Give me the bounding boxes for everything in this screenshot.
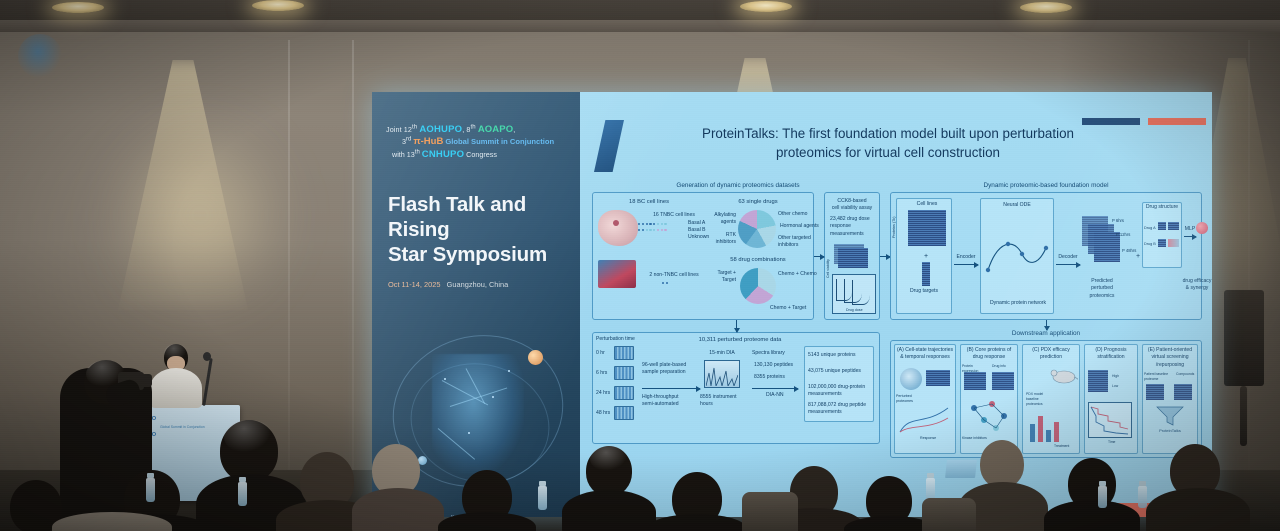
downstream-d-detail-time: Time: [1108, 440, 1115, 445]
org-cnhupo: CNHUPO: [422, 149, 464, 160]
combo-label-chemo-target: Chemo + Target: [770, 305, 806, 312]
prep-line-1: 96-well plate-based: [642, 362, 686, 368]
event-date-location: Oct 11-14, 2025 Guangzhou, China: [388, 280, 508, 289]
congress-text: Congress: [466, 150, 497, 159]
proteins-axis-label: Proteins (7k): [892, 216, 898, 238]
dancer-silhouette: [432, 354, 524, 474]
spectra-proteins: 8355 proteins: [754, 374, 785, 381]
conference-room-photo: Joint 12th AOHUPO, 8th AOAPO, 3rd π-HuB …: [0, 0, 1280, 531]
section-label-downstream: Downstream application: [890, 330, 1202, 337]
downstream-b-id: (B): [967, 347, 974, 353]
compound-library-matrix: [1174, 384, 1192, 400]
well-plate-icon: [614, 386, 634, 400]
patient-proteome-matrix: [1146, 384, 1164, 400]
conference-line-3: with 13th CNHUPO Congress: [392, 149, 497, 160]
slide-title-line-2: proteomics for virtual cell construction: [628, 143, 1148, 162]
breast-tissue-illustration: [598, 210, 638, 246]
downstream-label-b: (B) Core proteins of drug response: [960, 347, 1018, 362]
cell-state-cluster: [900, 368, 922, 390]
plus-sign-input: +: [916, 252, 936, 262]
downstream-e-detail-2: Compounds: [1176, 372, 1194, 377]
speaker-at-podium: [148, 344, 204, 406]
p-label-6hrs: P 6hrs: [1112, 218, 1124, 224]
podium-brand-subtitle: Global Summit in Conjunction: [160, 425, 205, 429]
downstream-d-line-2: stratification: [1097, 354, 1124, 360]
core-protein-network: [964, 398, 1014, 432]
high-throughput-note: High-throughput semi-automated: [642, 394, 692, 409]
cell-line-dot-row: [638, 223, 667, 225]
sep-1: , 8: [462, 125, 470, 134]
stat-unique-proteins: 5143 unique proteins: [808, 352, 872, 359]
summit-text: Global Summit in Conjunction: [445, 137, 554, 146]
arrow-datasets-down: [736, 320, 737, 332]
downstream-c-detail-2: Treatment: [1054, 444, 1069, 449]
section-label-datasets: Generation of dynamic proteomics dataset…: [598, 182, 878, 189]
drug-a-fingerprint-2: [1168, 222, 1179, 230]
ordinal-sup-3: rd: [406, 137, 411, 143]
slice-label-rtk: RTKinhibitors: [704, 232, 736, 247]
cck8-header: CCK8-based cell viability assay: [826, 198, 878, 213]
timepoint-0hr: 0 hr: [596, 350, 605, 357]
neural-ode-label: Neural ODE: [982, 202, 1052, 209]
dose-response-curve: [852, 280, 870, 305]
ceiling-downlight: [252, 0, 304, 11]
non-tnbc-dot-row: [662, 282, 668, 284]
cck8-plate-stack: [838, 248, 868, 268]
downstream-a-detail-1: Perturbed proteomes: [896, 394, 926, 404]
non-tnbc-label: 2 non-TNBC cell lines: [640, 272, 708, 279]
sep-2: ,: [513, 125, 515, 134]
planet-large: [528, 350, 543, 365]
bottle-cap: [1139, 481, 1146, 486]
ceiling-downlight: [1020, 2, 1072, 13]
output-line-1: drug efficacy: [1183, 278, 1212, 284]
projection-screen: Joint 12th AOHUPO, 8th AOAPO, 3rd π-HuB …: [372, 92, 1212, 517]
downstream-d-detail-low: Low: [1112, 384, 1118, 389]
network-node: [492, 396, 494, 398]
downstream-e-line-2: virtual screening: [1151, 354, 1188, 360]
timepoint-48hrs: 48 hrs: [596, 410, 610, 417]
speaker-torso: [150, 368, 202, 408]
pdx-efficacy-bar: [1038, 416, 1043, 442]
title-bar-red-accent: [1148, 118, 1206, 125]
downstream-d-id: (D): [1095, 347, 1102, 353]
microphone-head: [203, 352, 211, 361]
drug-combinations-label: 58 drug combinations: [706, 256, 810, 264]
perturbation-time-label: Perturbation time: [596, 336, 635, 343]
downstream-label-c: (C) PDX efficacy prediction: [1022, 347, 1080, 362]
ode-trajectory-curve: [984, 232, 1050, 278]
protein-expression-matrix: [964, 372, 986, 390]
drug-combinations-pie-chart: [740, 268, 776, 304]
perturbed-proteome-data-label: 10,311 perturbed proteome data: [650, 336, 830, 344]
stat-drug-protein: 102,000,000 drug-protein measurements: [808, 384, 872, 399]
stat-unique-peptides: 43,075 unique peptides: [808, 368, 872, 375]
well-plate-icon: [614, 346, 634, 360]
water-bottle: [146, 478, 155, 502]
event-date: Oct 11-14, 2025: [388, 280, 440, 289]
slice-label-hormonal: Hormonal agents: [780, 223, 819, 230]
downstream-b-line-2: drug response: [973, 354, 1006, 360]
drug-targets-label: Drug targets: [898, 288, 950, 295]
dia-label: 15-min DIA: [702, 350, 742, 357]
downstream-label-d: (D) Prognosis stratification: [1084, 347, 1138, 362]
chair-back: [922, 498, 976, 531]
joint-prefix: Joint 12: [386, 125, 412, 134]
downstream-c-id: (C): [1032, 347, 1039, 353]
instrument-hours-label: 8555 instrument hours: [700, 394, 746, 409]
audience-head: [980, 440, 1024, 488]
laptop-screen-glow: [945, 460, 977, 478]
bc-cell-lines-label: 18 BC cell lines: [594, 198, 704, 206]
water-bottle: [1098, 486, 1107, 508]
camera-lens: [138, 374, 152, 387]
cell-lines-heatmap: [908, 210, 946, 246]
pdx-mouse-icon: [1050, 364, 1078, 386]
network-node: [468, 432, 470, 434]
single-drugs-pie-chart: [738, 210, 776, 248]
arrow-to-encoder: [954, 264, 978, 265]
timepoint-6hrs: 6 hrs: [596, 370, 607, 377]
proteintalks-logo-label: ProteinTalks: [1146, 428, 1194, 434]
ordinal-sup-2: th: [471, 125, 476, 131]
bottle-cap: [147, 473, 154, 478]
prognosis-heatmap: [1088, 370, 1108, 392]
downstream-b-line-1: Core proteins of: [975, 347, 1011, 353]
event-city: Guangzhou, China: [447, 280, 509, 289]
ordinal-sup: th: [412, 125, 417, 131]
conference-line-1: Joint 12th AOHUPO, 8th AOAPO,: [386, 124, 515, 135]
downstream-b-detail-2: Drug info: [992, 364, 1006, 369]
downstream-e-id: (E): [1148, 347, 1155, 353]
org-pi-hub: π-HuB: [413, 136, 443, 147]
arrow-to-mlp: [1184, 236, 1196, 237]
session-title-line-2: Star Symposium: [388, 242, 568, 267]
tnbc-cell-lines-label: 16 TNBC cell lines: [638, 212, 710, 219]
downstream-b-detail-1: Protein expression: [962, 364, 988, 374]
combo-label-chemo-chemo: Chemo + Chemo: [778, 271, 817, 278]
downstream-label-a: (A) Cell-state trajectories & temporal r…: [894, 347, 956, 362]
audience-shoulders: [1146, 488, 1250, 531]
ordinal-sup-4: th: [415, 150, 420, 156]
downstream-e-detail-1: Patient baseline proteome: [1144, 372, 1170, 382]
stat-drug-peptide: 817,088,072 drug peptide measurements: [808, 402, 872, 417]
drug-a-fingerprint: [1158, 222, 1166, 230]
session-title: Flash Talk and Rising Star Symposium: [388, 192, 568, 267]
perturbed-proteomes-matrix: [926, 370, 950, 386]
non-tnbc-cell-illustration: [598, 260, 636, 288]
arrow-model-down: [1046, 320, 1047, 330]
pdx-efficacy-bar: [1030, 424, 1035, 442]
water-bottle: [1138, 486, 1147, 508]
downstream-a-id: (A): [897, 347, 904, 353]
slice-label-alkylating: Alkylatingagents: [706, 212, 736, 227]
well-plate-icon: [614, 366, 634, 380]
drug-efficacy-output-label: drug efficacy & synergy: [1180, 278, 1212, 293]
downstream-c-detail-1: PDX model baseline proteomics: [1026, 392, 1054, 407]
audience-hair-highlight: [224, 420, 274, 454]
water-bottle: [238, 482, 247, 506]
wall-seam: [288, 40, 290, 470]
bottle-cap: [1099, 481, 1106, 486]
drug-info-matrix: [992, 372, 1014, 390]
cck8-bullet: 23,482 drug dose response measurements: [830, 216, 876, 238]
cck8-header-line-1: CCK8-based: [837, 198, 866, 204]
water-bottle: [538, 486, 547, 510]
chair-back: [742, 492, 798, 531]
slice-label-other-chemo: Other chemo: [778, 211, 807, 218]
ceiling-downlight: [740, 1, 792, 12]
well-plate-icon: [614, 406, 634, 420]
loudspeaker-stand: [1240, 386, 1247, 446]
encoder-label: Encoder: [952, 254, 980, 261]
dia-nn-label: DIA-NN: [766, 392, 784, 399]
sample-prep-label: 96-well plate-based sample preparation: [642, 362, 698, 377]
downstream-d-detail-high: High: [1112, 374, 1119, 379]
wall-seam: [352, 40, 354, 470]
loudspeaker: [1224, 290, 1264, 386]
conference-line-2: 3rd π-HuB Global Summit in Conjunction: [402, 136, 554, 147]
with-prefix: with 13: [392, 150, 415, 159]
audience-hair-highlight: [590, 446, 630, 472]
predicted-line-1: Predicted: [1091, 278, 1113, 284]
presentation-slide: ProteinTalks: The first foundation model…: [580, 92, 1212, 517]
predicted-line-2: perturbed: [1091, 285, 1113, 291]
title-accent-bar: [594, 120, 624, 172]
org-aoapo: AOAPO: [478, 124, 513, 135]
slice-label-other-targeted: Other targetedinhibitors: [778, 235, 818, 250]
network-node: [508, 370, 510, 372]
drug-b-fingerprint: [1158, 239, 1166, 247]
decoder-label: Decoder: [1054, 254, 1082, 261]
predicted-line-3: proteomics: [1090, 293, 1115, 299]
slide-title: ProteinTalks: The first foundation model…: [628, 124, 1148, 162]
arrow-to-decoder: [1056, 264, 1080, 265]
arrow-prep-to-dia: [642, 388, 700, 389]
drug-row-a-label: Drug A: [1144, 226, 1156, 232]
drug-structure-box: [1142, 202, 1182, 268]
slide-title-line-1: ProteinTalks: The first foundation model…: [628, 124, 1148, 143]
timepoint-24hrs: 24 hrs: [596, 390, 610, 397]
downstream-e-line-1: Patient-oriented: [1156, 347, 1192, 353]
prep-note-line-2: semi-automated: [642, 401, 679, 407]
ms-spectrum-trace: [706, 364, 738, 386]
trajectory-lines: [898, 404, 952, 434]
output-line-2: & synergy: [1186, 285, 1209, 291]
audience-shoulders: [1044, 500, 1140, 531]
drug-b-fingerprint-2: [1168, 239, 1179, 247]
cell-line-dot-row: [638, 229, 667, 231]
spectra-peptides: 130,130 peptides: [754, 362, 793, 369]
arrow-datasets-to-cck8: [814, 256, 824, 257]
cck8-header-line-2: cell viability assay: [832, 205, 872, 211]
ceiling-downlight: [52, 2, 104, 13]
downstream-e-line-3: /repurposing: [1156, 362, 1184, 368]
cck8-x-axis-label: Drug dose: [846, 308, 863, 313]
drug-row-b-label: Drug B: [1144, 242, 1156, 248]
nipple-marker: [613, 220, 619, 226]
downstream-label-e: (E) Patient-oriented virtual screening /…: [1142, 347, 1198, 369]
pdx-efficacy-bar: [1054, 422, 1059, 442]
downstream-c-line-1: PDX efficacy: [1041, 347, 1070, 353]
network-node: [444, 378, 446, 380]
funnel-icon: [1156, 406, 1184, 426]
downstream-c-line-2: prediction: [1040, 354, 1062, 360]
predicted-proteomics-label: Predicted perturbed proteomics: [1080, 278, 1124, 300]
bottle-cap: [239, 477, 246, 482]
cck8-y-axis-label: Cell viability: [826, 242, 831, 278]
audience-shoulders: [352, 488, 444, 531]
p-label-12hrs: P 12hrs: [1116, 232, 1130, 238]
session-title-line-1: Flash Talk and Rising: [388, 192, 568, 242]
bottle-cap: [539, 481, 546, 486]
downstream-a-detail-2: Response: [920, 436, 936, 441]
prep-note-line-1: High-throughput: [642, 394, 679, 400]
downstream-a-line-1: Cell-state trajectories: [905, 347, 953, 353]
efficacy-output-node: [1196, 222, 1208, 234]
arrow-cck8-to-model: [880, 256, 890, 257]
dynamic-protein-network-label: Dynamic protein network: [978, 300, 1058, 307]
wall-glow: [110, 120, 290, 310]
drug-structure-label: Drug structure: [1140, 204, 1184, 211]
prep-line-2: sample preparation: [642, 369, 686, 375]
single-drugs-label: 63 single drugs: [708, 198, 808, 206]
spectra-library-label: Spectra library: [752, 350, 785, 357]
downstream-d-line-1: Prognosis: [1104, 347, 1127, 353]
cell-lines-matrix-label: Cell lines: [906, 201, 948, 208]
downstream-a-line-2: & temporal responses: [900, 354, 950, 360]
section-label-foundation-model: Dynamic proteomic-based foundation model: [890, 182, 1202, 189]
org-aohupo: AOHUPO: [419, 124, 462, 135]
pdx-efficacy-bar: [1046, 430, 1051, 442]
arrow-to-stats: [752, 388, 798, 389]
audience-shoulders: [562, 490, 656, 531]
podium-dancer-graphic: [18, 34, 62, 78]
bottle-cap: [927, 473, 934, 478]
combo-label-target-target: Target +Target: [702, 270, 736, 285]
kaplan-meier-curves: [1090, 404, 1130, 436]
drug-targets-vector: [922, 262, 930, 286]
